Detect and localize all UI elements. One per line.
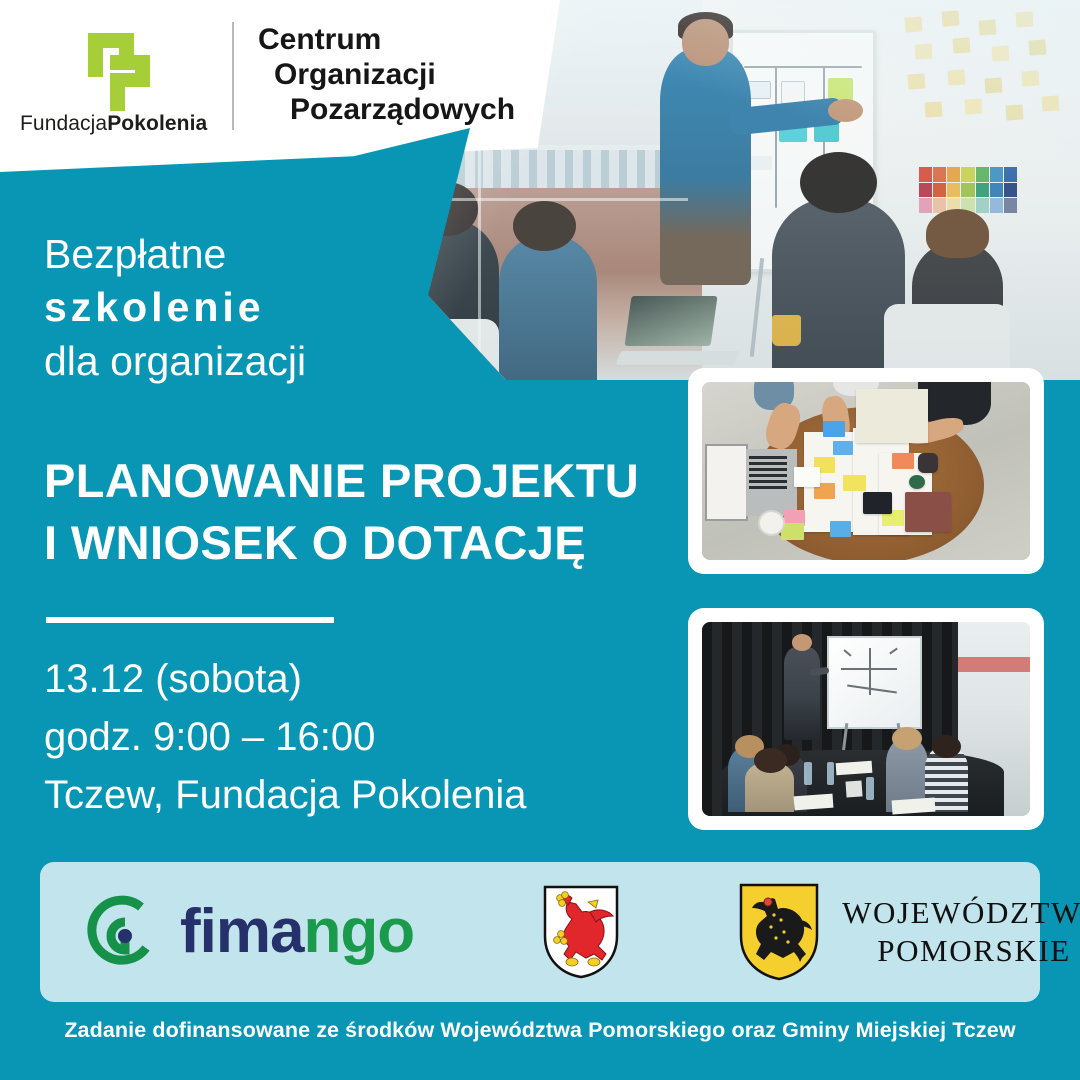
event-details-block: 13.12 (sobota) godz. 9:00 – 16:00 Tczew,… <box>44 650 527 824</box>
hero-presenter-head <box>682 19 729 66</box>
hero-presenter-hand <box>828 99 863 122</box>
event-title: PLANOWANIE PROJEKTU I WNIOSEK O DOTACJĘ <box>44 450 639 574</box>
fimango-wordmark-part-2: ngo <box>303 897 414 966</box>
herb-wojewodztwa-pomorskiego-icon <box>738 882 820 982</box>
p3-bottle-2 <box>827 762 835 785</box>
p2-sticky-blue-1 <box>823 421 844 437</box>
p3-plant <box>846 781 863 798</box>
funding-footer-note: Zadanie dofinansowane ze środków Wojewód… <box>0 1018 1080 1043</box>
p2-coffee-cup <box>758 510 785 535</box>
fimango-wordmark: fimango <box>180 901 414 963</box>
sponsor-logo-strip: fimango <box>40 862 1040 1002</box>
hero-attendee-2-head <box>513 201 576 250</box>
p2-sticky-yellow-2 <box>843 475 866 491</box>
p2-leather-folder <box>905 492 951 531</box>
p3-trainer-head <box>792 634 812 651</box>
p2-sticky-blue-3 <box>830 521 851 537</box>
fundacja-pokolenia-fp-monogram-icon <box>86 29 172 115</box>
fimango-circle-icon <box>84 893 162 971</box>
p2-sticky-orange-2 <box>892 453 913 469</box>
title-underline-rule <box>46 617 334 623</box>
wojewodztwo-pomorskie-wordmark: WOJEWÓDZTWO POMORSKIE <box>842 894 1080 970</box>
hero-attendee-4-head <box>926 209 989 258</box>
photo-card-training-room <box>688 608 1044 830</box>
p2-card <box>794 467 820 487</box>
woj-line-1: WOJEWÓDZTWO <box>842 894 1080 932</box>
hero-sticky-note-wall <box>898 8 1066 160</box>
herb-gryf-powiat-tczewski-icon <box>542 884 620 980</box>
p2-notebook <box>856 389 928 442</box>
intro-text-block: Bezpłatne szkolenie dla organizacji <box>44 228 306 388</box>
p3-paper-1 <box>793 793 833 809</box>
photo-training-room <box>702 622 1030 816</box>
brand-light-text: Fundacja <box>20 112 107 135</box>
p3-flipchart <box>827 636 923 729</box>
header-vertical-divider <box>232 22 234 130</box>
p2-sticky-blue-2 <box>833 441 853 455</box>
fimango-wordmark-part-1: fima <box>180 897 303 966</box>
intro-line-3: dla organizacji <box>44 335 306 388</box>
p3-attendee-4-head <box>892 727 922 750</box>
p2-inkpot <box>918 453 938 473</box>
p3-bottle-1 <box>804 762 812 785</box>
hero-attendee-2 <box>499 236 597 380</box>
cop-line-2: Organizacji <box>258 57 515 92</box>
p3-attendee-5-head <box>932 735 962 758</box>
woj-line-2: POMORSKIE <box>842 932 1080 970</box>
intro-line-2-szkolenie: szkolenie <box>44 281 306 334</box>
p2-plant <box>909 475 925 489</box>
fundacja-pokolenia-wordmark: FundacjaPokolenia <box>20 112 207 136</box>
hero-laptop <box>618 300 737 365</box>
cop-line-3: Pozarządowych <box>258 92 515 127</box>
fimango-logo: fimango <box>84 893 414 971</box>
p3-bottle-3 <box>866 777 874 800</box>
header-logo-row: FundacjaPokolenia Centrum Organizacji Po… <box>0 0 560 150</box>
hero-mug <box>772 315 801 345</box>
p3-trainer <box>784 647 820 740</box>
event-time: godz. 9:00 – 16:00 <box>44 708 527 766</box>
centrum-organizacji-pozarzadowych-title: Centrum Organizacji Pozarządowych <box>258 22 515 127</box>
event-title-line-2: I WNIOSEK O DOTACJĘ <box>44 512 639 574</box>
hero-presenter <box>660 49 751 285</box>
photo-planning-table <box>702 382 1030 560</box>
hero-attendee-3-head <box>800 152 877 213</box>
cop-line-1: Centrum <box>258 22 515 57</box>
brand-bold-text: Pokolenia <box>107 112 207 135</box>
event-title-line-1: PLANOWANIE PROJEKTU <box>44 450 639 512</box>
photo-card-planning-table <box>688 368 1044 574</box>
poster-canvas: FundacjaPokolenia Centrum Organizacji Po… <box>0 0 1080 1080</box>
p3-paper-3 <box>892 797 935 814</box>
event-location: Tczew, Fundacja Pokolenia <box>44 766 527 824</box>
p3-paper-2 <box>836 760 873 774</box>
intro-line-1: Bezpłatne <box>44 228 306 281</box>
event-date: 13.12 (sobota) <box>44 650 527 708</box>
p2-phone <box>863 492 893 513</box>
hero-color-swatch-chart <box>919 167 1017 213</box>
